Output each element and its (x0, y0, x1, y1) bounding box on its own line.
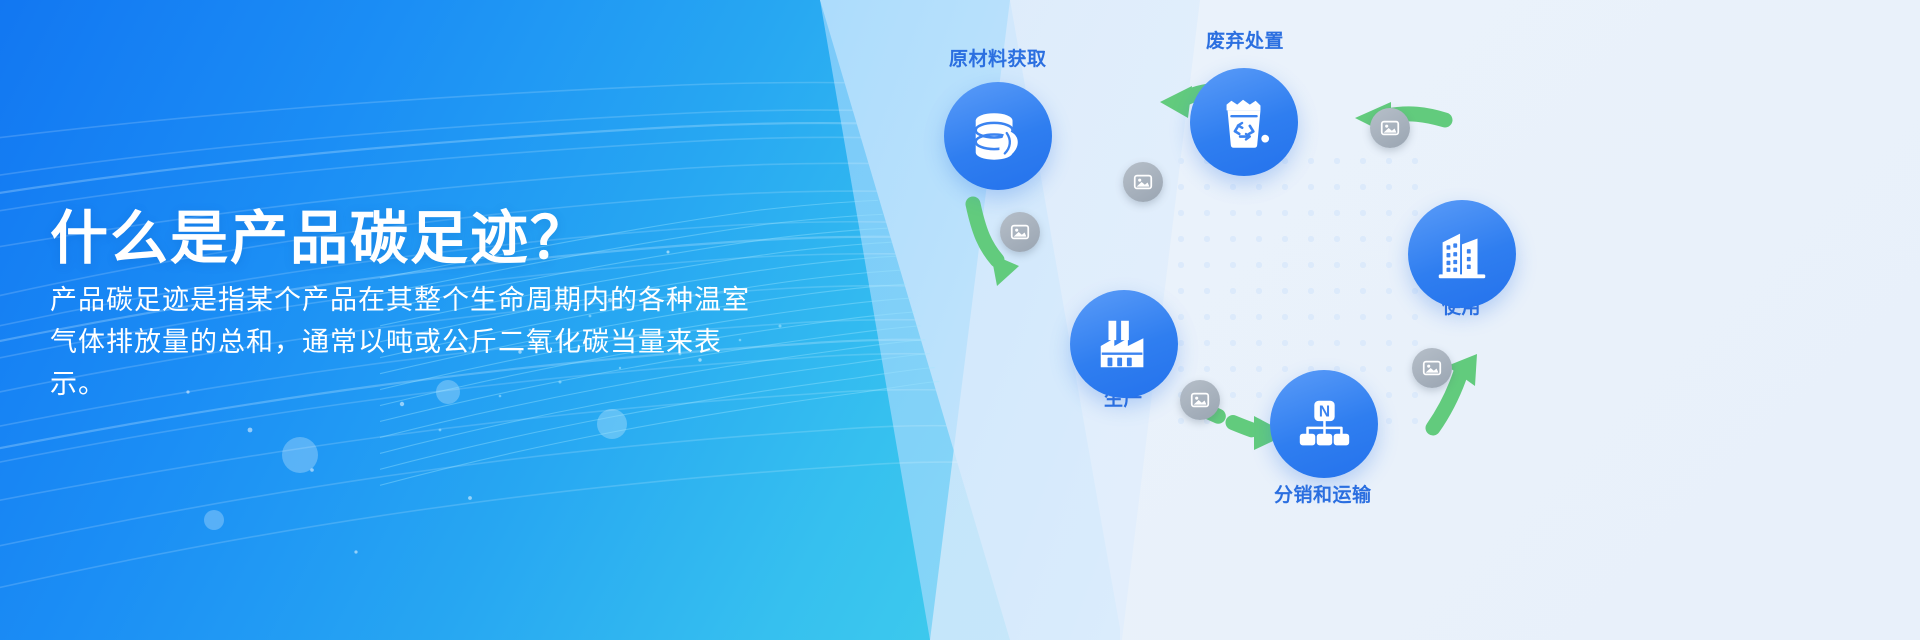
node-raw-material[interactable] (944, 82, 1052, 190)
node-label-distribution: 分销和运输 (1274, 480, 1372, 507)
badge-3[interactable] (1370, 108, 1410, 148)
image-placeholder-icon (1189, 389, 1211, 411)
badge-2[interactable] (1123, 162, 1163, 202)
node-label-waste-disposal: 废弃处置 (1206, 26, 1284, 53)
carbon-footprint-banner: 什么是产品碳足迹？ 产品碳足迹是指某个产品在其整个生命周期内的各种温室气体排放量… (0, 0, 1920, 640)
page-title: 什么是产品碳足迹？ (50, 191, 590, 275)
image-placeholder-icon (1132, 171, 1154, 193)
badge-4[interactable] (1412, 348, 1452, 388)
image-placeholder-icon (1421, 357, 1443, 379)
hero-description: 产品碳足迹是指某个产品在其整个生命周期内的各种温室气体排放量的总和，通常以吨或公… (50, 279, 750, 405)
network-hierarchy-icon: N (1293, 393, 1355, 455)
recycle-bin-icon (1213, 91, 1275, 153)
node-waste-disposal[interactable] (1190, 68, 1298, 176)
arrow-distribution-to-use (1399, 332, 1489, 442)
node-production[interactable] (1070, 290, 1178, 398)
badge-1[interactable] (1000, 212, 1040, 252)
svg-text:N: N (1319, 404, 1330, 421)
factory-icon (1093, 313, 1155, 375)
badge-5[interactable] (1180, 380, 1220, 420)
database-leaf-icon (967, 105, 1029, 167)
node-use[interactable] (1408, 200, 1516, 308)
node-distribution[interactable]: N (1270, 370, 1378, 478)
image-placeholder-icon (1009, 221, 1031, 243)
node-label-raw-material: 原材料获取 (949, 44, 1047, 71)
image-placeholder-icon (1379, 117, 1401, 139)
buildings-icon (1431, 223, 1493, 285)
